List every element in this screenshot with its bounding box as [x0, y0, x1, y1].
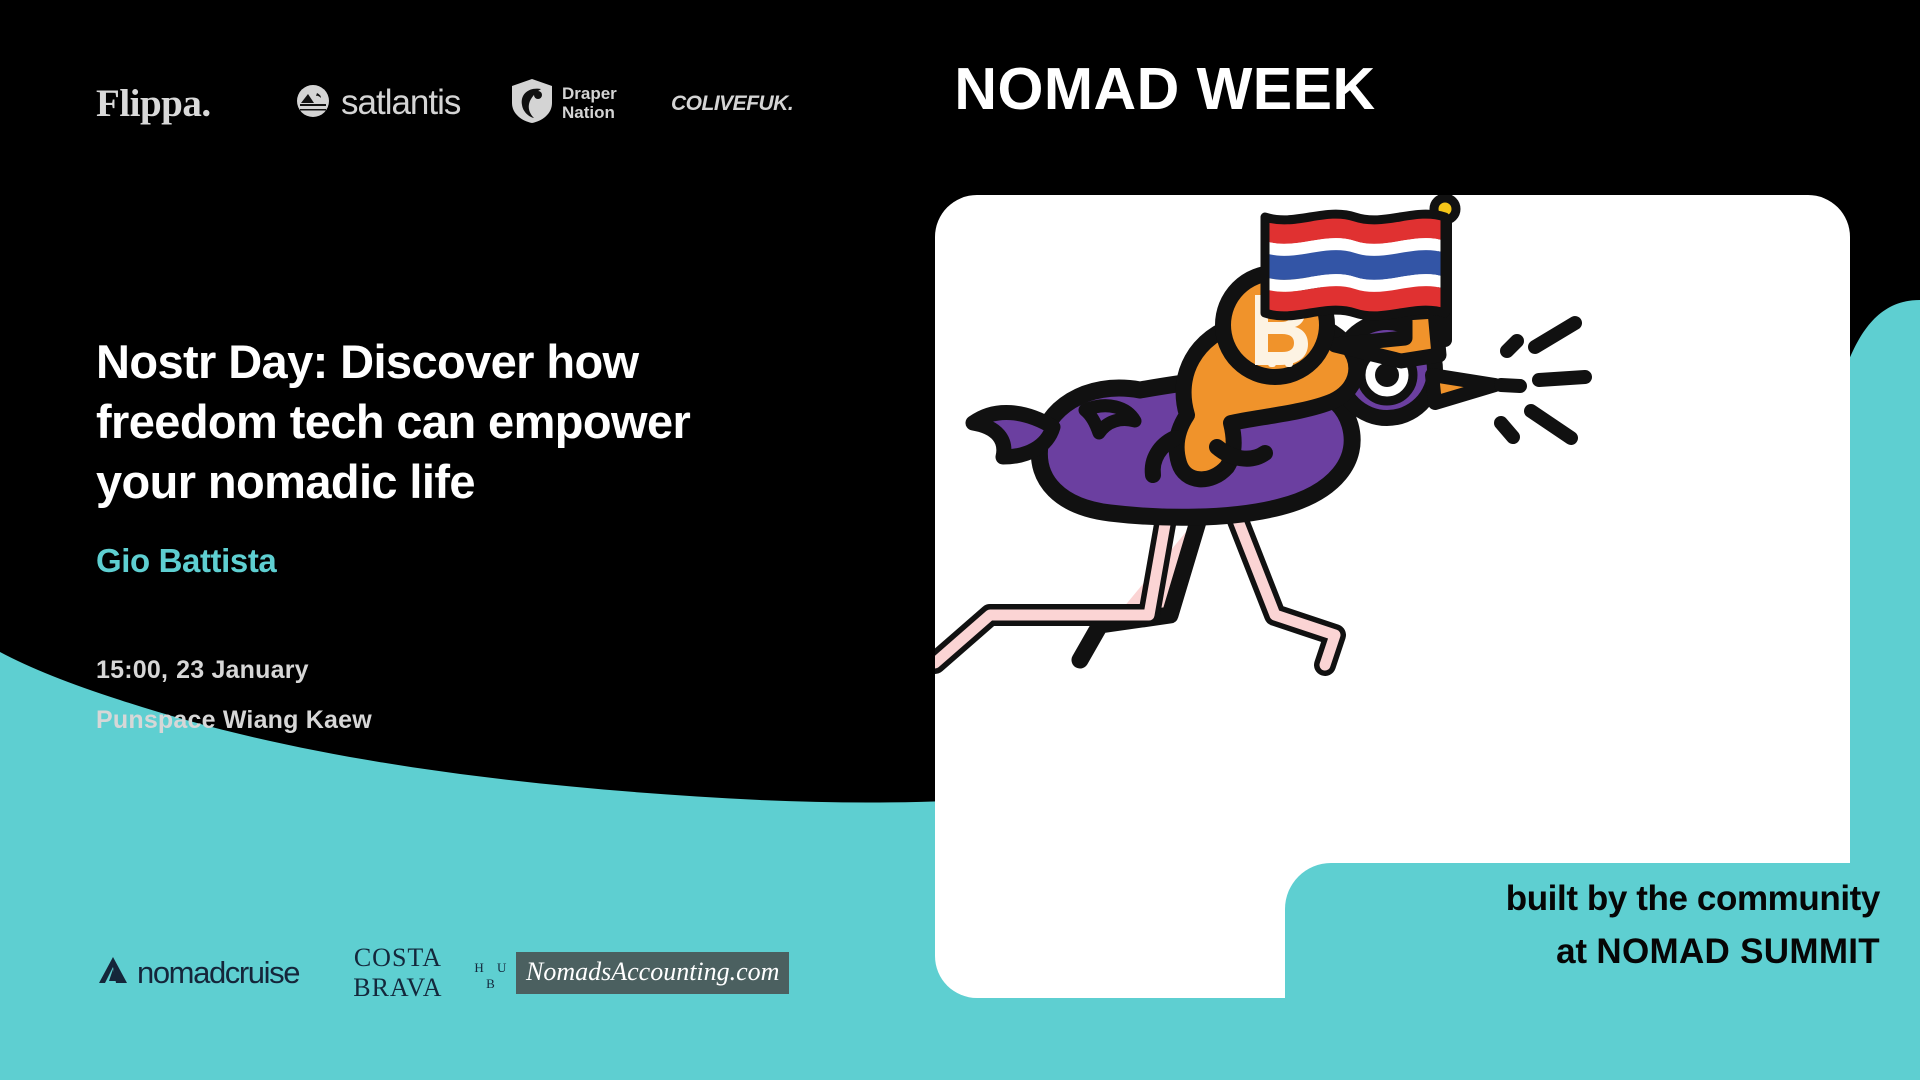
draper-line2: Nation	[562, 103, 615, 122]
session-datetime: 15:00,23 January	[96, 645, 372, 695]
sponsor-draper-nation[interactable]: Draper Nation	[511, 78, 671, 129]
sponsor-satlantis-label: satlantis	[341, 83, 460, 123]
costa-line2: H U B	[470, 960, 516, 992]
speaker-name: Gio Battista	[96, 542, 276, 580]
nomad-week-title: NOMAD WEEK	[845, 60, 1485, 119]
costa-line1: COSTA BRAVA	[326, 943, 470, 1003]
sponsor-nomadcruise-label: nomadcruise	[137, 955, 299, 991]
sponsor-colivefuk[interactable]: CO LIVE FUK.	[671, 93, 793, 114]
colive-line1: CO	[671, 93, 702, 114]
session-meta: 15:00,23 January Punspace Wiang Kaew	[96, 645, 372, 745]
top-sponsor-strip: Flippa. satlantis	[96, 58, 856, 148]
sponsor-flippa-label: Flippa.	[96, 81, 211, 126]
draper-line1: Draper	[562, 84, 617, 103]
footer-line-2-brand: NOMAD SUMMIT	[1596, 932, 1880, 971]
footer-line-1: built by the community	[1285, 879, 1880, 919]
colive-line3: FUK.	[746, 93, 793, 114]
sparkle-icon	[1501, 323, 1585, 438]
thai-flag-icon	[1265, 214, 1445, 316]
bottom-sponsor-strip: nomadcruise COSTA BRAVA H U B NomadsAcco…	[96, 938, 816, 1008]
sponsor-satlantis[interactable]: satlantis	[296, 83, 511, 123]
session-venue: Punspace Wiang Kaew	[96, 695, 372, 745]
ostrich-beak	[1432, 375, 1495, 403]
nomad-week-tab: NOMAD WEEK	[900, 0, 1530, 160]
community-footer-tab: built by the community at NOMAD SUMMIT	[1285, 863, 1920, 998]
sponsor-draper-label: Draper Nation	[562, 84, 617, 122]
session-headline: Nostr Day: Discover how freedom tech can…	[96, 332, 786, 512]
sponsor-costa-brava-hub[interactable]: COSTA BRAVA H U B	[326, 943, 516, 1003]
ostrich-tail	[973, 412, 1053, 457]
sponsor-nomadcruise[interactable]: nomadcruise	[96, 954, 326, 993]
satlantis-globe-icon	[296, 84, 330, 123]
footer-line-2: at NOMAD SUMMIT	[1285, 932, 1880, 972]
poster-canvas: Flippa. satlantis	[0, 0, 1920, 1080]
sponsor-nomadsaccounting-label: NomadsAccounting.com	[516, 952, 789, 994]
nomadcruise-mountain-icon	[96, 954, 130, 993]
colive-line2: LIVE	[702, 93, 747, 114]
sponsor-flippa[interactable]: Flippa.	[96, 81, 296, 126]
session-time: 15:00,	[96, 656, 168, 684]
ostrich-legs-icon	[935, 513, 1335, 665]
session-date: 23 January	[176, 656, 309, 684]
footer-line-2-prefix: at	[1556, 932, 1596, 971]
draper-shield-icon	[511, 78, 553, 129]
sponsor-nomadsaccounting[interactable]: NomadsAccounting.com	[516, 952, 789, 994]
